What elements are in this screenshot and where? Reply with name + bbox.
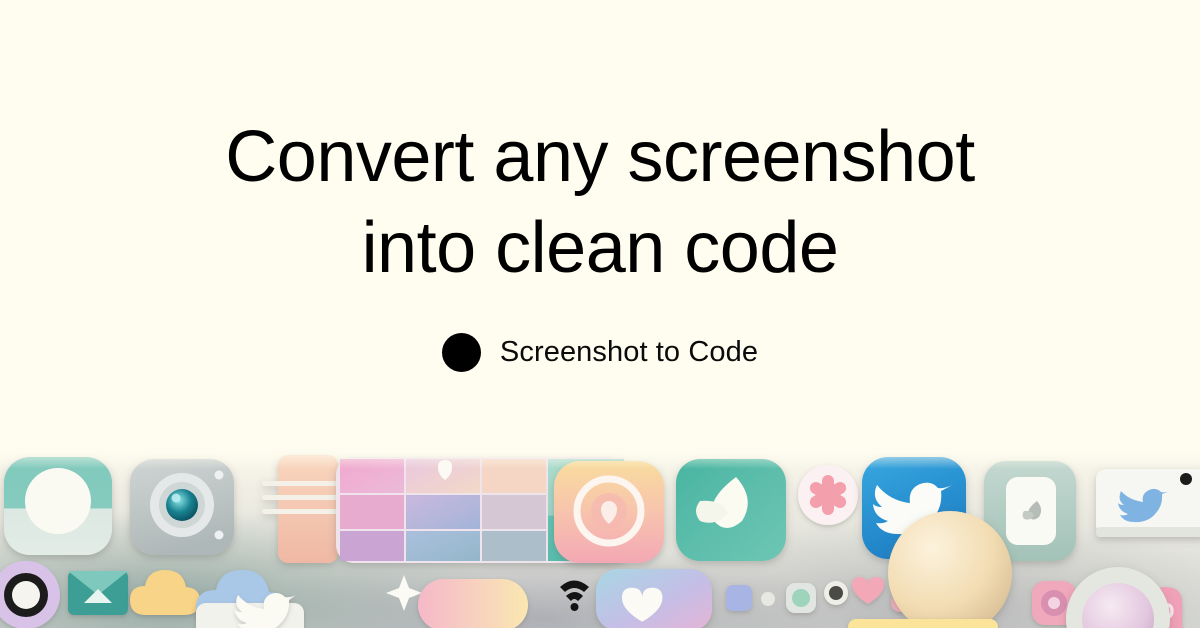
black-circle-logo-icon bbox=[442, 333, 481, 372]
page-title: Convert any screenshot into clean code bbox=[225, 112, 974, 294]
lavender-ring bbox=[0, 561, 60, 628]
teal-leaf-tile bbox=[676, 459, 786, 561]
headline-line-2: into clean code bbox=[225, 203, 974, 294]
brand-row: Screenshot to Code bbox=[442, 333, 758, 372]
sparkle-icon bbox=[386, 575, 422, 611]
yellow-strip bbox=[848, 619, 998, 628]
yellow-cloud bbox=[130, 570, 200, 615]
brand-name: Screenshot to Code bbox=[500, 336, 758, 369]
peach-panel-tile bbox=[262, 455, 340, 563]
white-bird-card bbox=[1096, 469, 1200, 537]
violet-heart-tile bbox=[596, 569, 712, 628]
pink-yellow-tile bbox=[418, 579, 528, 628]
app-icon-collage bbox=[0, 443, 1200, 628]
grey-dish-tile bbox=[1066, 567, 1170, 628]
collage-artwork bbox=[0, 443, 1200, 628]
headline-line-1: Convert any screenshot bbox=[225, 112, 974, 203]
mint-toggle-tile bbox=[4, 457, 112, 555]
pink-asterisk-badge bbox=[798, 465, 858, 525]
og-share-card: Convert any screenshot into clean code S… bbox=[0, 0, 1200, 628]
teal-envelope bbox=[68, 571, 128, 615]
grey-camera-tile bbox=[130, 459, 234, 555]
small-icon-cluster bbox=[726, 577, 909, 613]
wifi-icon bbox=[560, 581, 589, 612]
hero-section: Convert any screenshot into clean code S… bbox=[0, 0, 1200, 443]
pink-target-tile bbox=[554, 461, 664, 563]
